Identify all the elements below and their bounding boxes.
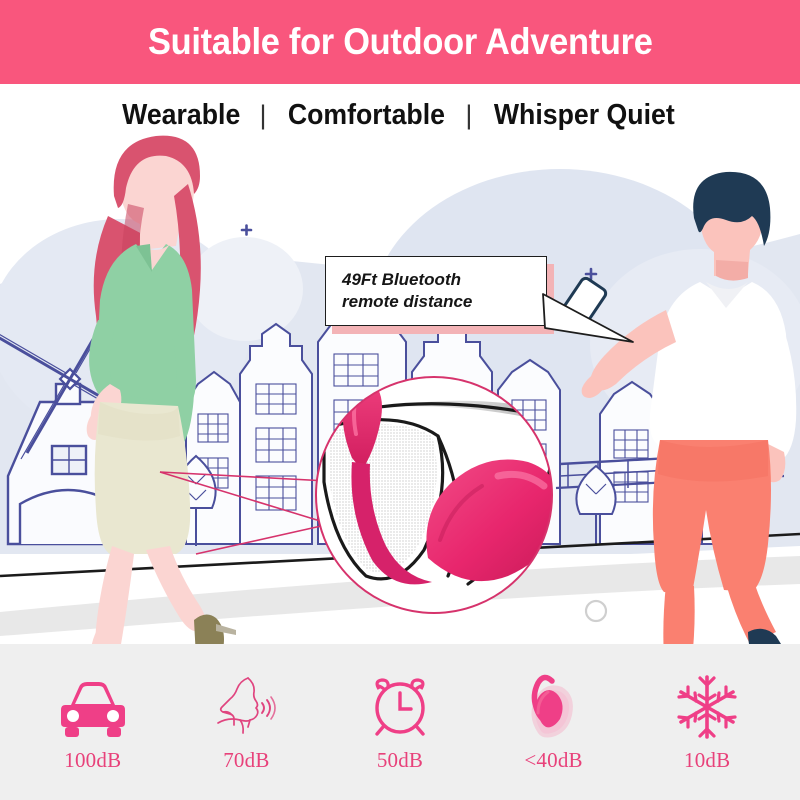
callout-line-2: remote distance: [342, 291, 536, 313]
spec-item-car: 100dB: [23, 672, 163, 773]
alarm-clock-icon: [364, 672, 436, 742]
spec-label-snowflake: 10dB: [684, 748, 730, 773]
illustration-scene: 49Ft Bluetooth remote distance: [0, 84, 800, 644]
spec-item-alarm: 50dB: [330, 672, 470, 773]
snowflake-icon: [672, 672, 742, 742]
spec-item-whisper: 70dB: [176, 672, 316, 773]
spec-label-product: <40dB: [524, 748, 582, 773]
callout-box: 49Ft Bluetooth remote distance: [325, 256, 547, 326]
callout-line-1: 49Ft Bluetooth: [342, 269, 536, 291]
spec-label-alarm: 50dB: [377, 748, 423, 773]
car-icon: [57, 672, 129, 742]
noise-level-spec-row: 100dB 70dB: [0, 644, 800, 800]
spec-item-product: <40dB: [484, 672, 624, 773]
product-infographic: Suitable for Outdoor Adventure Wearable …: [0, 0, 800, 800]
scene-artwork: [0, 84, 800, 644]
page-title: Suitable for Outdoor Adventure: [148, 21, 653, 63]
feature-subtitle-row: Wearable | Comfortable | Whisper Quiet: [0, 90, 800, 140]
feature-comfortable: Comfortable: [287, 99, 444, 132]
feature-wearable: Wearable: [122, 99, 240, 132]
whisper-face-icon: [210, 672, 282, 742]
subtitle-separator: |: [260, 100, 267, 131]
subtitle-separator: |: [465, 100, 472, 131]
spec-label-car: 100dB: [64, 748, 121, 773]
feature-whisper-quiet: Whisper Quiet: [494, 99, 675, 132]
spec-label-whisper: 70dB: [223, 748, 269, 773]
spec-item-snowflake: 10dB: [637, 672, 777, 773]
header-band: Suitable for Outdoor Adventure: [0, 0, 800, 84]
bluetooth-callout: 49Ft Bluetooth remote distance: [325, 256, 547, 326]
callout-tail: [541, 288, 661, 358]
product-egg-icon: [518, 672, 590, 742]
